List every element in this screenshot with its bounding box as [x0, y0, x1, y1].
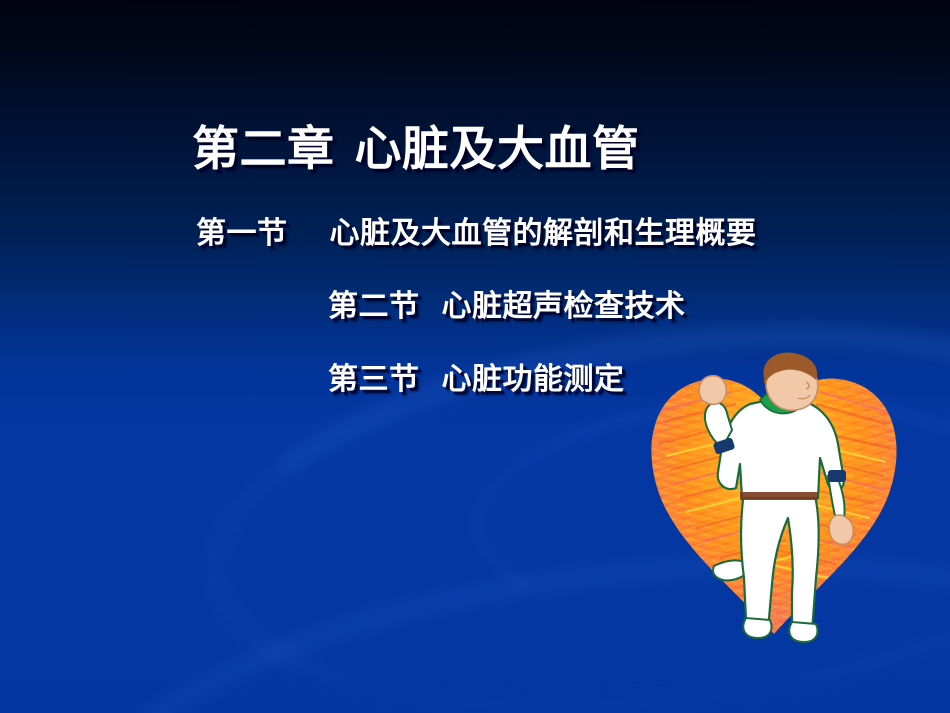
presentation-slide: 第二章心脏及大血管 第一节心脏及大血管的解剖和生理概要 第二节心脏超声检查技术 … [0, 0, 950, 713]
heart-with-walking-man-image [640, 352, 908, 644]
section-1-name: 心脏及大血管的解剖和生理概要 [330, 216, 757, 251]
slide-title-chapter: 第二章 [192, 122, 335, 177]
section-2-number: 第二节 [328, 289, 420, 324]
slide-title: 第二章心脏及大血管 [192, 124, 640, 176]
section-item-3: 第三节心脏功能测定 [328, 354, 625, 398]
section-3-number: 第三节 [328, 362, 420, 397]
section-2-name: 心脏超声检查技术 [442, 289, 686, 324]
slide-title-subject: 心脏及大血管 [355, 122, 640, 177]
section-1-number: 第一节 [196, 216, 288, 251]
section-item-2: 第二节心脏超声检查技术 [328, 281, 686, 325]
section-3-name: 心脏功能测定 [442, 362, 625, 397]
section-item-1: 第一节心脏及大血管的解剖和生理概要 [196, 208, 757, 252]
